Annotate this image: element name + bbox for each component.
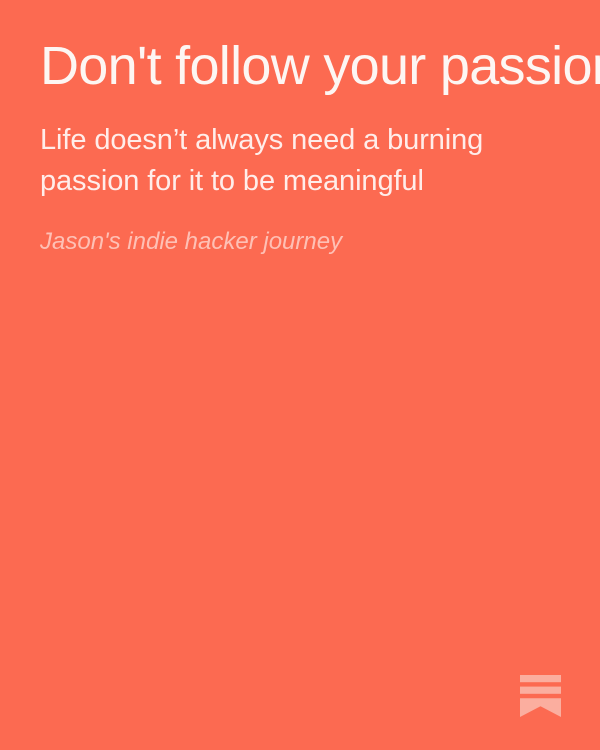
quote-subhead-line-1: Life doesn’t always need a burning <box>40 124 483 156</box>
quote-subhead: Life doesn’t always need a burning passi… <box>40 120 510 202</box>
quote-byline: Jason's indie hacker journey <box>40 226 470 258</box>
quote-card: Don't follow your passion Life doesn’t a… <box>0 0 600 750</box>
quote-subhead-line-2: passion for it to be meaningful <box>40 165 424 197</box>
page-title: Don't follow your passion <box>40 33 570 99</box>
substack-logo-icon <box>520 675 561 717</box>
